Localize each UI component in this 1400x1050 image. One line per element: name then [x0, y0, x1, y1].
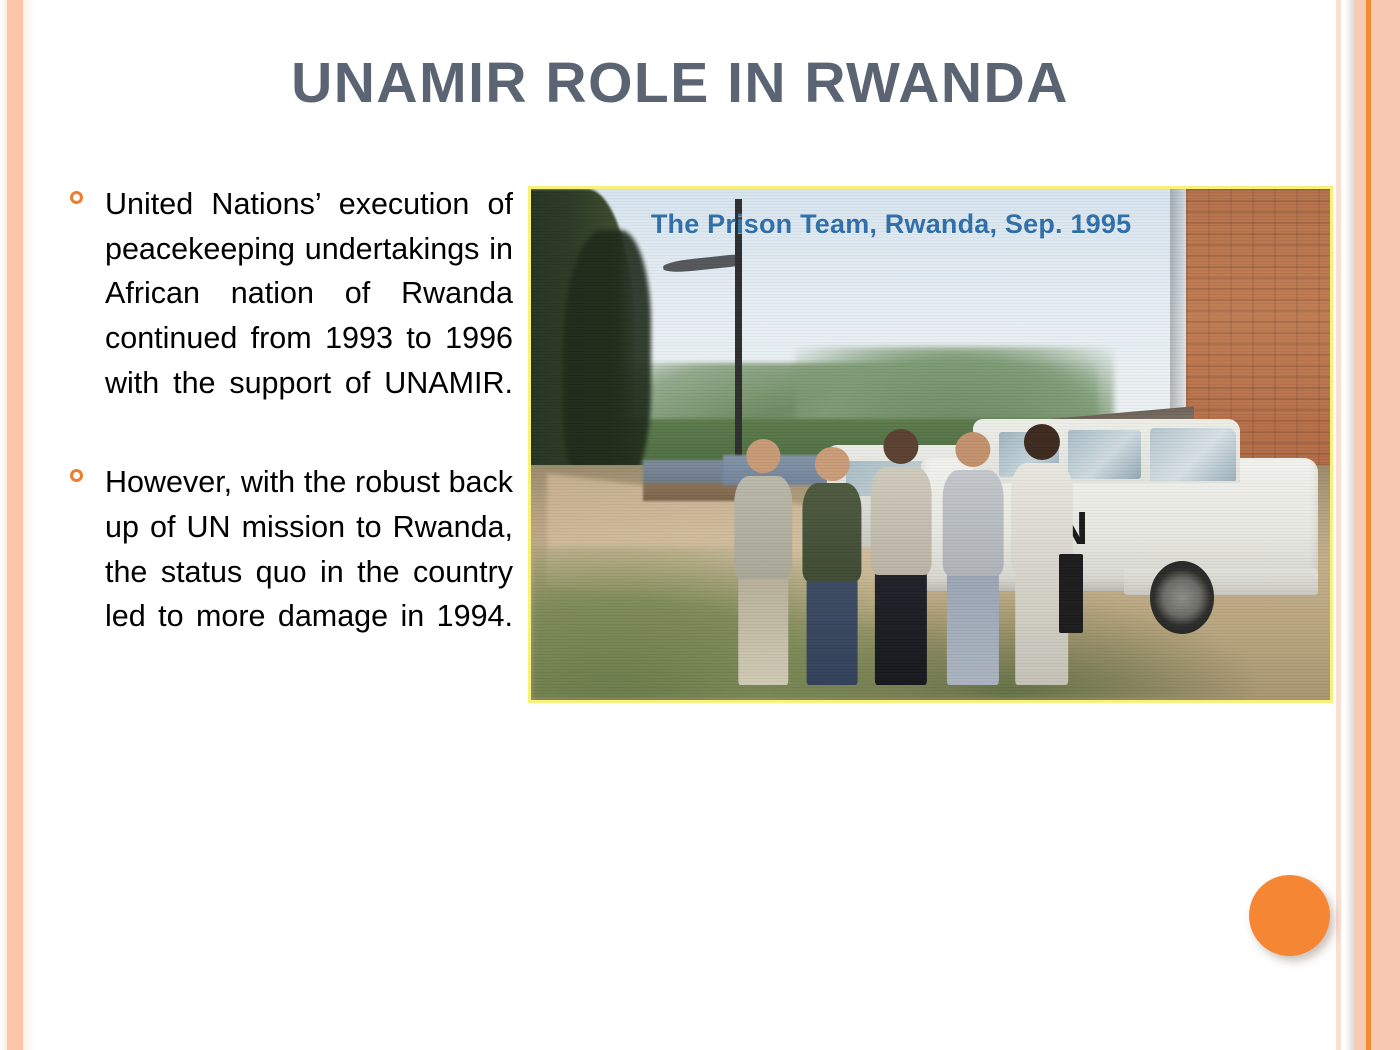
photo-person-4 — [942, 432, 1003, 685]
decorative-orange-circle — [1249, 875, 1330, 956]
bullet-circle-icon — [70, 191, 83, 204]
photo-person-5 — [1010, 424, 1072, 685]
bullet-text: However, with the robust back up of UN m… — [105, 460, 513, 684]
slide-title: UNAMIR ROLE IN RWANDA — [60, 52, 1300, 115]
left-border-accent-stripe — [7, 0, 23, 1050]
photo-person-head — [815, 447, 849, 481]
photo-person-legs — [875, 567, 927, 685]
photo-person-legs — [807, 575, 858, 684]
photo-person-head — [1023, 424, 1059, 460]
bullet-circle-icon — [70, 469, 83, 482]
bullet-text: United Nations’ execution of peacekeepin… — [105, 182, 513, 450]
photo-person-torso — [803, 483, 862, 583]
right-border-stripe-2 — [1341, 0, 1354, 1050]
photo-person-2 — [803, 447, 862, 685]
photo-person-1 — [735, 439, 793, 684]
photo-frame: N — [528, 186, 1333, 703]
list-item: United Nations’ execution of peacekeepin… — [68, 182, 513, 450]
photo-person-legs — [947, 568, 999, 684]
photo-person-torso — [735, 476, 793, 579]
bullet-list: United Nations’ execution of peacekeepin… — [68, 182, 513, 694]
photo-vehicle-window-mid — [1068, 430, 1141, 479]
photo-vehicle-front-wheel — [1150, 561, 1215, 634]
photo-person-legs — [739, 572, 788, 685]
left-border-fade-stripe — [23, 0, 35, 1050]
photo-vehicle-windshield — [1150, 428, 1236, 482]
right-border-stripe-5 — [1371, 0, 1400, 1050]
photo-person-bag — [1059, 554, 1083, 632]
photo-person-torso — [942, 470, 1003, 576]
photo-person-head — [883, 429, 918, 464]
photo-caption: The Prison Team, Rwanda, Sep. 1995 — [651, 209, 1131, 240]
photo-tree-left-inner — [563, 230, 651, 496]
photo-person-head — [955, 432, 990, 467]
photo-person-torso — [871, 467, 932, 574]
photo-person-3 — [871, 429, 932, 685]
list-item: However, with the robust back up of UN m… — [68, 460, 513, 684]
right-border-stripe-3 — [1354, 0, 1366, 1050]
slide: UNAMIR ROLE IN RWANDA United Nations’ ex… — [0, 0, 1400, 1050]
photo-image: N — [531, 189, 1330, 700]
photo-person-head — [747, 439, 780, 472]
